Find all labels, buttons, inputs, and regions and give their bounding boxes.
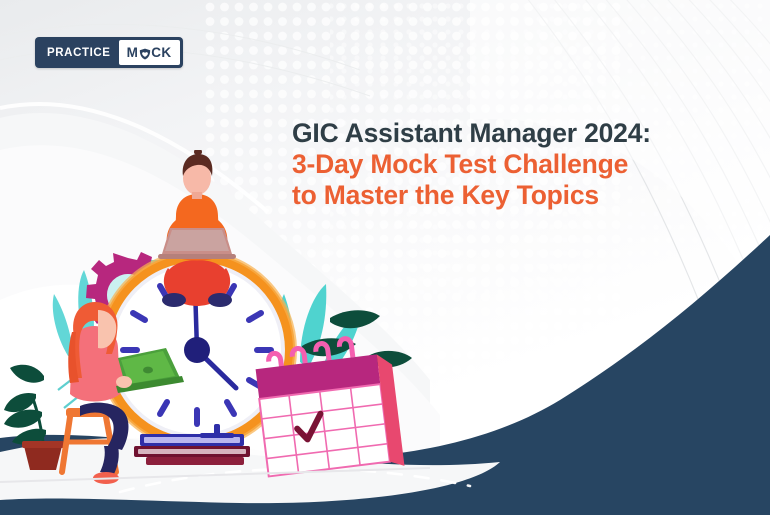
logo-badge-mock: M CK	[119, 40, 180, 65]
person-sitting-on-clock-with-laptop	[158, 150, 236, 307]
study-illustration	[0, 150, 430, 515]
potted-plant	[4, 365, 64, 470]
logo-text-mock: M CK	[127, 45, 172, 60]
title-line-2-dark: 2024:	[584, 118, 651, 148]
flower-pot	[24, 446, 62, 470]
logo-mock-ck: CK	[151, 45, 171, 60]
practicemock-logo[interactable]: PRACTICE M CK	[35, 37, 183, 68]
promo-banner: PRACTICE M CK GIC Assistant Manager 2024…	[0, 0, 770, 515]
logo-text-practice: PRACTICE	[38, 40, 119, 65]
clock-center	[184, 337, 210, 363]
title-line-4: Key Topics	[462, 180, 599, 210]
shield-heart-icon	[139, 47, 151, 59]
logo-mock-m: M	[127, 45, 139, 60]
title-line-1: GIC Assistant Manager	[292, 118, 577, 148]
